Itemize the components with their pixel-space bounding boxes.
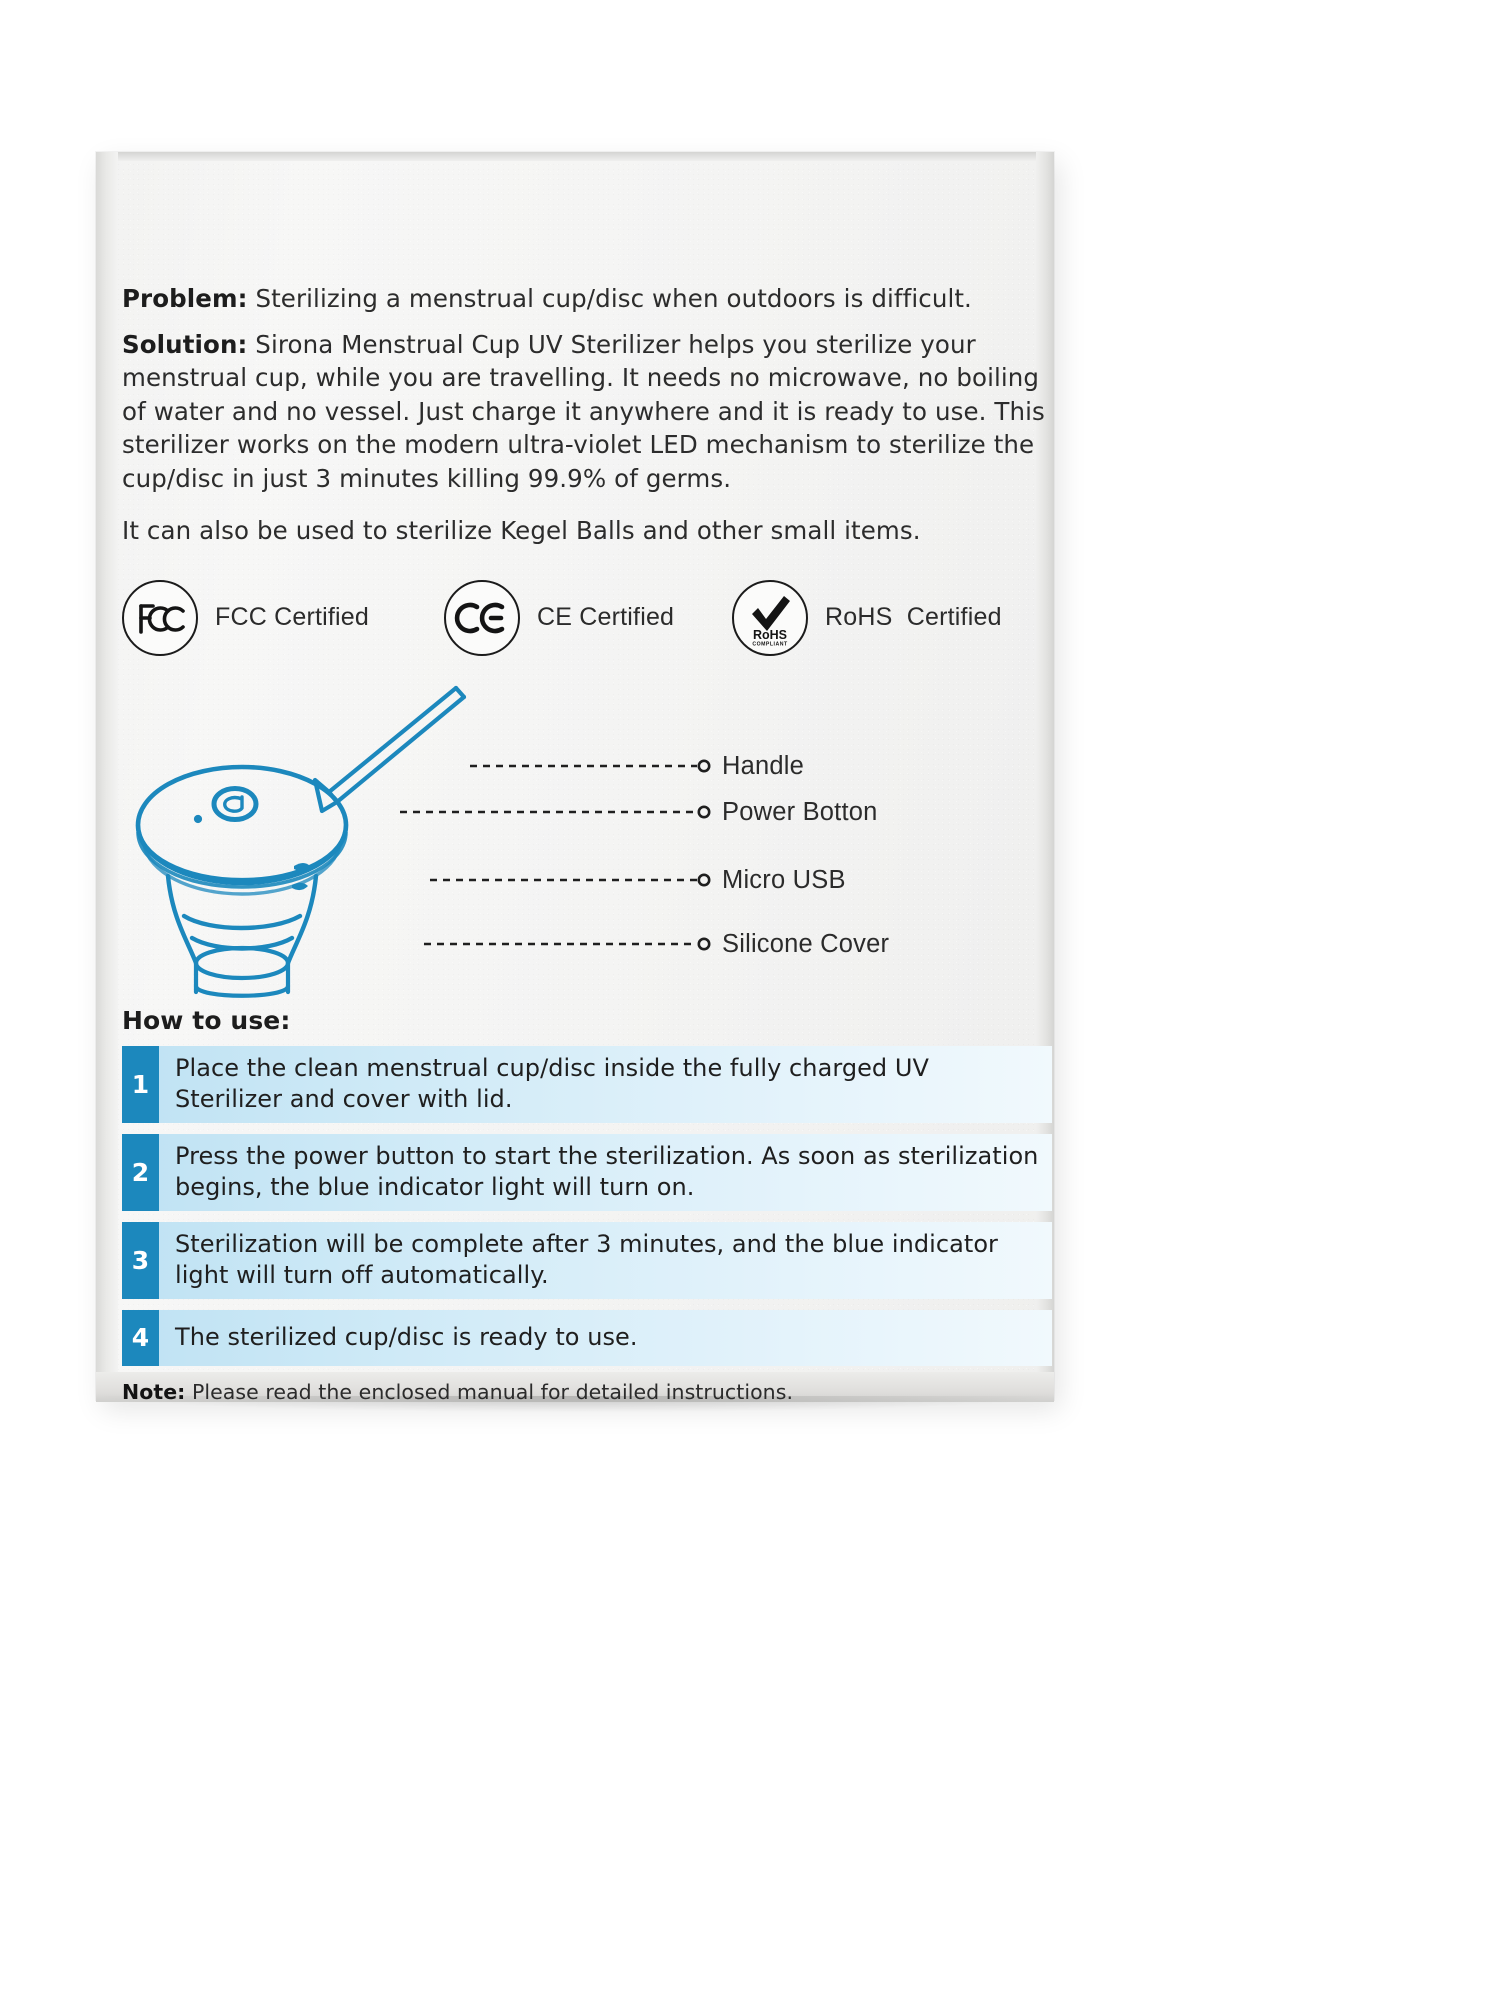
additional-uses-paragraph: It can also be used to sterilize Kegel B… <box>122 514 1047 548</box>
ce-label: CE Certified <box>537 603 674 632</box>
sterilizer-line-drawing <box>122 680 1052 1002</box>
svg-text:COMPLIANT: COMPLIANT <box>752 641 788 647</box>
fcc-label: FCC Certified <box>215 603 369 632</box>
problem-text: Sterilizing a menstrual cup/disc when ou… <box>248 284 972 313</box>
step-text: Place the clean menstrual cup/disc insid… <box>159 1046 1052 1123</box>
rohs-label: RoHS Certified <box>825 603 1002 632</box>
product-photo-stage: Problem: Sterilizing a menstrual cup/dis… <box>0 0 1500 2000</box>
callout-label-handle: Handle <box>722 752 804 781</box>
power-button-glyph <box>214 788 256 819</box>
note-label: Note: <box>122 1380 185 1404</box>
callout-leader-lines <box>400 766 697 944</box>
step-number: 3 <box>122 1222 159 1299</box>
fcc-icon <box>122 580 198 656</box>
step-text: Press the power button to start the ster… <box>159 1134 1052 1211</box>
ce-icon <box>444 580 520 656</box>
callout-label-micro-usb: Micro USB <box>722 866 846 895</box>
svg-text:RoHS: RoHS <box>753 628 787 642</box>
solution-label: Solution: <box>122 330 247 359</box>
callout-endpoint-dots <box>699 760 709 948</box>
certification-fcc: FCC Certified <box>122 580 444 656</box>
step-item: 2 Press the power button to start the st… <box>122 1134 1052 1211</box>
how-to-use-title: How to use: <box>122 1006 1052 1035</box>
callout-label-silicone-cover: Silicone Cover <box>722 930 889 959</box>
step-number: 4 <box>122 1310 159 1366</box>
callout-label-power-botton: Power Botton <box>722 798 878 827</box>
indicator-led-dot <box>194 814 202 822</box>
step-number: 1 <box>122 1046 159 1123</box>
step-item: 4 The sterilized cup/disc is ready to us… <box>122 1310 1052 1366</box>
box-left-spine <box>96 152 118 1400</box>
problem-label: Problem: <box>122 284 248 313</box>
solution-paragraph: Solution: Sirona Menstrual Cup UV Steril… <box>122 328 1047 496</box>
problem-paragraph: Problem: Sterilizing a menstrual cup/dis… <box>122 282 1047 316</box>
box-top-flap-edge <box>96 152 1054 161</box>
package-back-panel-content: Problem: Sterilizing a menstrual cup/dis… <box>122 282 1052 1404</box>
step-item: 1 Place the clean menstrual cup/disc ins… <box>122 1046 1052 1123</box>
certification-rohs: RoHS COMPLIANT RoHS Certified <box>732 580 1032 656</box>
certification-ce: CE Certified <box>444 580 732 656</box>
how-to-use-steps: 1 Place the clean menstrual cup/disc ins… <box>122 1046 1052 1366</box>
certification-row: FCC Certified CE Certified <box>122 580 1052 656</box>
step-number: 2 <box>122 1134 159 1211</box>
rohs-icon: RoHS COMPLIANT <box>732 580 808 656</box>
note-line: Note: Please read the enclosed manual fo… <box>122 1380 1052 1404</box>
product-diagram: Handle Power Botton Micro USB Silicone C… <box>122 680 1052 1002</box>
step-item: 3 Sterilization will be complete after 3… <box>122 1222 1052 1299</box>
note-text: Please read the enclosed manual for deta… <box>185 1380 793 1404</box>
step-text: The sterilized cup/disc is ready to use. <box>159 1315 648 1361</box>
step-text: Sterilization will be complete after 3 m… <box>159 1222 1052 1299</box>
solution-text: Sirona Menstrual Cup UV Sterilizer helps… <box>122 330 1045 493</box>
